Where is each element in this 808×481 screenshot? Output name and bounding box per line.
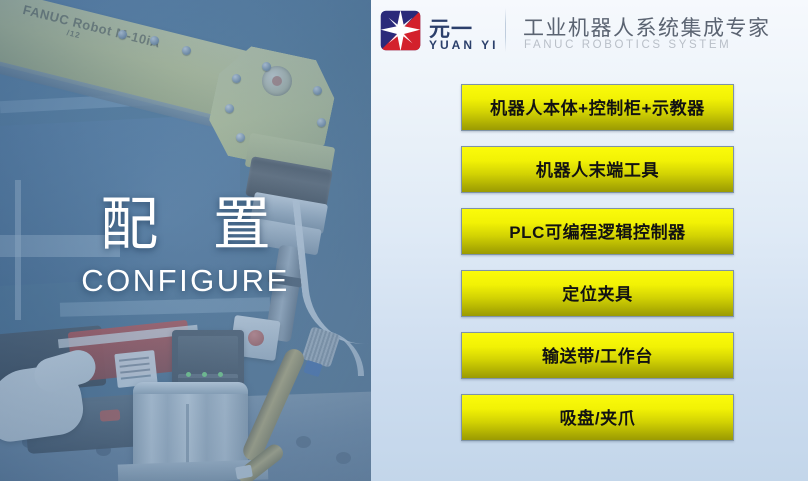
brand-divider xyxy=(505,8,506,52)
hero-photo-panel: FANUC Robot M-10iA /12 xyxy=(0,0,371,481)
option-button-suction-cup-gripper[interactable]: 吸盘/夹爪 xyxy=(461,394,734,441)
option-button-robot-end-effector[interactable]: 机器人末端工具 xyxy=(461,146,734,193)
brand-tagline-cn: 工业机器人系统集成专家 xyxy=(523,12,771,42)
hero-caption-en: CONFIGURE xyxy=(0,263,371,299)
option-button-positioning-fixture[interactable]: 定位夹具 xyxy=(461,270,734,317)
hero-caption-cn: 配 置 xyxy=(0,196,371,254)
options-panel: 元一 YUAN YI 工业机器人系统集成专家 FANUC ROBOTICS SY… xyxy=(371,0,808,481)
option-button-robot-body-controller-pendant[interactable]: 机器人本体+控制柜+示教器 xyxy=(461,84,734,131)
option-button-plc-controller[interactable]: PLC可编程逻辑控制器 xyxy=(461,208,734,255)
app-root: FANUC Robot M-10iA /12 xyxy=(0,0,808,481)
brand-tagline-en: FANUC ROBOTICS SYSTEM xyxy=(524,39,731,51)
brand-name-en: YUAN YI xyxy=(429,38,498,52)
option-button-conveyor-worktable[interactable]: 输送带/工作台 xyxy=(461,332,734,379)
configure-options-list: 机器人本体+控制柜+示教器 机器人末端工具 PLC可编程逻辑控制器 定位夹具 输… xyxy=(461,84,734,441)
brand-header: 元一 YUAN YI 工业机器人系统集成专家 FANUC ROBOTICS SY… xyxy=(371,0,808,62)
yuan-yi-logo-icon xyxy=(379,9,422,52)
hero-caption: 配 置 CONFIGURE xyxy=(0,196,371,299)
